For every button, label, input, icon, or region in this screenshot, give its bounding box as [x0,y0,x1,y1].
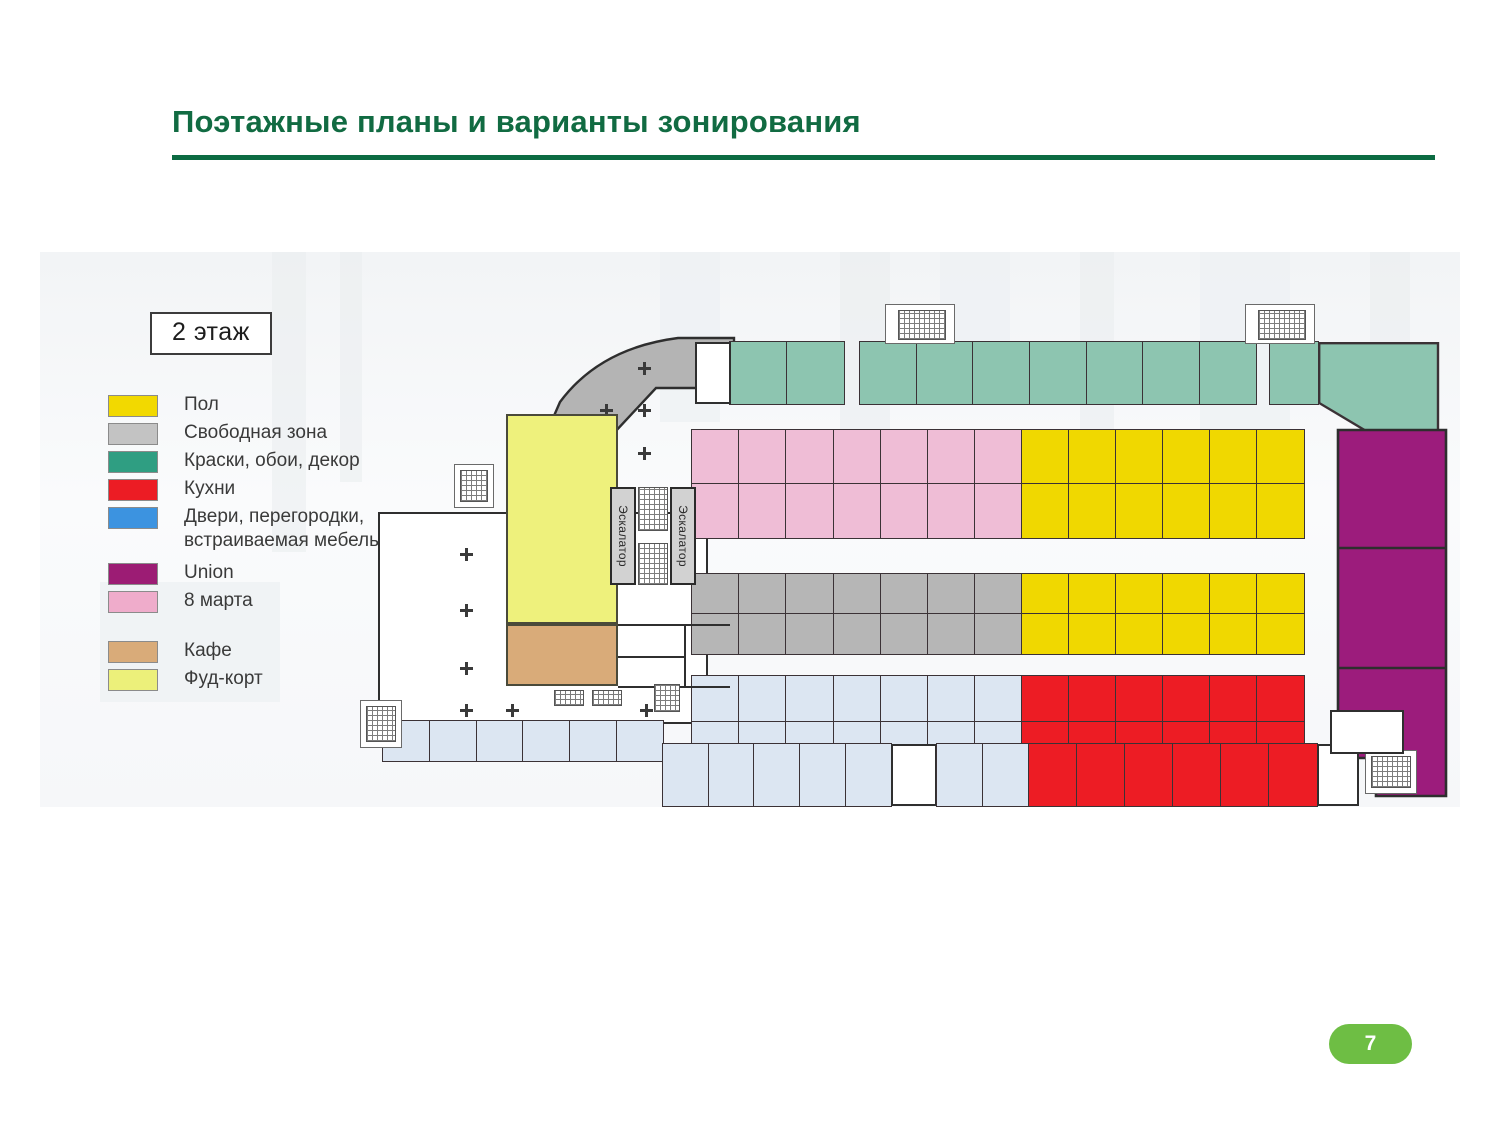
zone-bottom-doors-2 [937,744,1029,806]
page-title: Поэтажные планы и варианты зонирования [172,104,861,140]
zone-row1-8marta [692,430,1022,538]
stair-hatch-left-lower [366,706,396,742]
zone-row2-pol [1022,574,1304,654]
escalator-left: Эскалатор [610,487,636,585]
column-marker [460,662,473,675]
column-marker [638,447,651,460]
column-marker [460,604,473,617]
entrance-niche [695,342,731,404]
stair-hatch-left-upper [460,470,488,502]
page-number-badge: 7 [1329,1024,1412,1064]
zone-cafe [506,624,618,686]
zone-paint-decor-segment-c [1270,342,1318,404]
zone-paint-decor-segment-b [860,342,1256,404]
page-number: 7 [1365,1032,1377,1056]
stair-hatch-bottom-right [1371,756,1411,788]
zone-row2-free [692,574,1022,654]
column-marker [638,362,651,375]
bottom-band-gap-unit [891,744,937,806]
partition-line [684,624,686,686]
zone-row1-pol [1022,430,1304,538]
service-hatch-c [654,684,680,712]
zone-foodcourt [506,414,618,624]
service-room-bottom-right [1330,710,1404,754]
title-underline-rule [172,155,1435,160]
escalator-right: Эскалатор [670,487,696,585]
zone-paint-decor-segment-a [730,342,844,404]
column-marker [638,404,651,417]
column-marker [640,704,653,717]
zone-bottom-left-doors [383,721,663,761]
escalator-steps-hatch [638,543,668,585]
floor-plan-figure: 2 этаж Пол Свободная зона Краски, обои, … [40,252,1460,807]
partition-line [618,624,730,626]
escalator-right-label: Эскалатор [676,505,690,567]
escalator-steps-hatch [638,487,668,531]
stair-hatch-top-right [1258,310,1306,340]
column-marker [460,548,473,561]
partition-line [618,656,684,658]
column-marker [460,704,473,717]
escalator-left-label: Эскалатор [616,505,630,567]
service-hatch-b [592,690,622,706]
service-hatch-a [554,690,584,706]
floor-plan-drawing: Эскалатор Эскалатор [40,252,1460,807]
column-marker [506,704,519,717]
zone-bottom-doors [663,744,891,806]
zone-bottom-kitchens [1029,744,1317,806]
stair-hatch-top-left [898,310,946,340]
